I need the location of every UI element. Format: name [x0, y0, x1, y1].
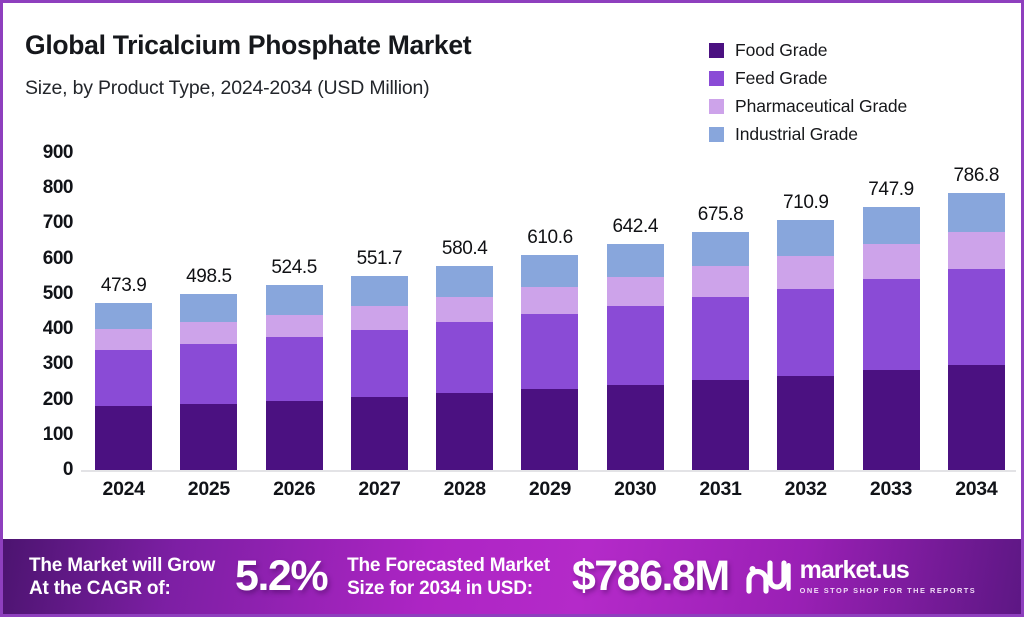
- bar-segment[interactable]: [692, 232, 749, 266]
- bar-segment[interactable]: [180, 322, 237, 343]
- cagr-caption-line1: The Market will Grow: [29, 554, 215, 577]
- bar-segment[interactable]: [436, 393, 493, 470]
- legend-label: Industrial Grade: [735, 124, 858, 145]
- x-axis-tick-label: 2031: [678, 478, 763, 501]
- bar-value-label: 747.9: [848, 179, 933, 201]
- bar-segment[interactable]: [863, 207, 920, 245]
- legend-label: Feed Grade: [735, 68, 827, 89]
- bar-column[interactable]: 580.42028: [422, 153, 507, 470]
- bar-segment[interactable]: [436, 297, 493, 322]
- bar-value-label: 551.7: [337, 248, 422, 270]
- bar-column[interactable]: 610.62029: [507, 153, 592, 470]
- y-axis: 9008007006005004003002001000: [3, 153, 81, 483]
- cagr-caption-line2: At the CAGR of:: [29, 577, 215, 600]
- cagr-caption: The Market will Grow At the CAGR of:: [29, 554, 215, 600]
- x-axis-tick-label: 2034: [934, 478, 1019, 501]
- bar-segment[interactable]: [863, 279, 920, 370]
- y-axis-tick-label: 600: [43, 248, 73, 270]
- x-axis-tick-label: 2029: [507, 478, 592, 501]
- bar-value-label: 675.8: [678, 204, 763, 226]
- bar-segment[interactable]: [95, 329, 152, 349]
- legend-item[interactable]: Pharmaceutical Grade: [709, 92, 907, 120]
- bar-segment[interactable]: [948, 365, 1005, 470]
- bar-segment[interactable]: [436, 322, 493, 393]
- x-axis-tick-label: 2032: [763, 478, 848, 501]
- bar-value-label: 786.8: [934, 165, 1019, 187]
- legend-label: Food Grade: [735, 40, 827, 61]
- y-axis-tick-label: 500: [43, 283, 73, 305]
- legend-item[interactable]: Food Grade: [709, 36, 907, 64]
- stacked-bar[interactable]: [180, 294, 237, 470]
- bar-segment[interactable]: [436, 266, 493, 297]
- bar-segment[interactable]: [521, 255, 578, 287]
- x-axis-tick-label: 2024: [81, 478, 166, 501]
- bar-value-label: 710.9: [763, 192, 848, 214]
- x-axis-line: [81, 470, 1016, 472]
- bar-segment[interactable]: [948, 232, 1005, 269]
- brand-logo: market.us ONE STOP SHOP FOR THE REPORTS: [745, 558, 977, 595]
- bar-segment[interactable]: [351, 306, 408, 330]
- bar-segment[interactable]: [266, 315, 323, 337]
- bar-segment[interactable]: [95, 406, 152, 470]
- bar-column[interactable]: 642.42030: [593, 153, 678, 470]
- forecast-caption: The Forecasted Market Size for 2034 in U…: [347, 554, 550, 600]
- chart-infographic: Global Tricalcium Phosphate Market Size,…: [0, 0, 1024, 617]
- y-axis-tick-label: 0: [63, 459, 73, 481]
- stacked-bar[interactable]: [692, 232, 749, 470]
- bar-segment[interactable]: [180, 294, 237, 322]
- bar-column[interactable]: 498.52025: [166, 153, 251, 470]
- bar-value-label: 642.4: [593, 216, 678, 238]
- bar-segment[interactable]: [777, 289, 834, 376]
- chart-legend: Food GradeFeed GradePharmaceutical Grade…: [709, 36, 907, 148]
- bar-column[interactable]: 675.82031: [678, 153, 763, 470]
- cagr-value: 5.2%: [235, 555, 327, 598]
- bar-segment[interactable]: [607, 277, 664, 306]
- bar-column[interactable]: 710.92032: [763, 153, 848, 470]
- chart-header: Global Tricalcium Phosphate Market Size,…: [3, 3, 1024, 153]
- stacked-bar[interactable]: [777, 220, 834, 470]
- page-title: Global Tricalcium Phosphate Market: [25, 30, 471, 61]
- bar-value-label: 610.6: [507, 227, 592, 249]
- bar-segment[interactable]: [863, 244, 920, 279]
- bar-segment[interactable]: [521, 389, 578, 470]
- stacked-bar[interactable]: [266, 285, 323, 470]
- bar-segment[interactable]: [777, 376, 834, 470]
- bar-segment[interactable]: [266, 285, 323, 314]
- legend-swatch-icon: [709, 127, 724, 142]
- bar-segment[interactable]: [180, 344, 237, 404]
- legend-swatch-icon: [709, 99, 724, 114]
- brand-tagline: ONE STOP SHOP FOR THE REPORTS: [800, 586, 977, 595]
- x-axis-tick-label: 2030: [593, 478, 678, 501]
- bar-segment[interactable]: [777, 220, 834, 256]
- y-axis-tick-label: 100: [43, 424, 73, 446]
- brand-name: market.us: [800, 556, 909, 584]
- stacked-bar[interactable]: [521, 255, 578, 470]
- x-axis-tick-label: 2028: [422, 478, 507, 501]
- forecast-value: $786.8M: [572, 555, 729, 598]
- bar-segment[interactable]: [948, 193, 1005, 232]
- bar-value-label: 473.9: [81, 275, 166, 297]
- bar-group: 473.92024498.52025524.52026551.72027580.…: [81, 153, 1019, 470]
- bar-segment[interactable]: [351, 330, 408, 397]
- legend-item[interactable]: Feed Grade: [709, 64, 907, 92]
- bar-segment[interactable]: [607, 244, 664, 277]
- bar-segment[interactable]: [692, 266, 749, 297]
- legend-swatch-icon: [709, 71, 724, 86]
- bar-segment[interactable]: [521, 287, 578, 314]
- bar-segment[interactable]: [607, 306, 664, 385]
- chart-plot-area: 9008007006005004003002001000 473.9202449…: [3, 153, 1024, 523]
- forecast-caption-line1: The Forecasted Market: [347, 554, 550, 577]
- bar-column[interactable]: 473.92024: [81, 153, 166, 470]
- bar-segment[interactable]: [351, 397, 408, 470]
- bar-column[interactable]: 524.52026: [252, 153, 337, 470]
- bar-segment[interactable]: [266, 401, 323, 470]
- bar-segment[interactable]: [777, 256, 834, 289]
- stacked-bar[interactable]: [948, 193, 1005, 470]
- x-axis-tick-label: 2025: [166, 478, 251, 501]
- y-axis-tick-label: 800: [43, 177, 73, 199]
- bar-column[interactable]: 747.92033: [848, 153, 933, 470]
- legend-swatch-icon: [709, 43, 724, 58]
- bar-segment[interactable]: [95, 350, 152, 406]
- y-axis-tick-label: 200: [43, 389, 73, 411]
- stacked-bar[interactable]: [607, 244, 664, 470]
- forecast-caption-line2: Size for 2034 in USD:: [347, 577, 550, 600]
- market-us-logo-icon: [745, 560, 791, 594]
- y-axis-tick-label: 700: [43, 212, 73, 234]
- y-axis-tick-label: 300: [43, 353, 73, 375]
- stacked-bar[interactable]: [863, 207, 920, 470]
- bar-value-label: 580.4: [422, 238, 507, 260]
- footer-banner: The Market will Grow At the CAGR of: 5.2…: [3, 539, 1021, 614]
- x-axis-tick-label: 2033: [848, 478, 933, 501]
- legend-label: Pharmaceutical Grade: [735, 96, 907, 117]
- bar-segment[interactable]: [607, 385, 664, 470]
- bar-value-label: 498.5: [166, 266, 251, 288]
- x-axis-tick-label: 2026: [252, 478, 337, 501]
- bar-segment[interactable]: [521, 314, 578, 389]
- bar-column[interactable]: 551.72027: [337, 153, 422, 470]
- bar-segment[interactable]: [948, 269, 1005, 364]
- bar-segment[interactable]: [692, 380, 749, 470]
- bar-column[interactable]: 786.82034: [934, 153, 1019, 470]
- bar-segment[interactable]: [863, 370, 920, 470]
- bar-segment[interactable]: [266, 337, 323, 401]
- y-axis-tick-label: 400: [43, 318, 73, 340]
- page-subtitle: Size, by Product Type, 2024-2034 (USD Mi…: [25, 77, 429, 100]
- bar-segment[interactable]: [180, 404, 237, 470]
- stacked-bar[interactable]: [351, 276, 408, 470]
- stacked-bar[interactable]: [436, 266, 493, 470]
- stacked-bar[interactable]: [95, 303, 152, 470]
- x-axis-tick-label: 2027: [337, 478, 422, 501]
- bar-segment[interactable]: [95, 303, 152, 329]
- y-axis-tick-label: 900: [43, 142, 73, 164]
- bar-value-label: 524.5: [252, 257, 337, 279]
- legend-item[interactable]: Industrial Grade: [709, 120, 907, 148]
- bar-segment[interactable]: [351, 276, 408, 307]
- brand-logo-text: market.us ONE STOP SHOP FOR THE REPORTS: [800, 558, 977, 595]
- bar-segment[interactable]: [692, 297, 749, 380]
